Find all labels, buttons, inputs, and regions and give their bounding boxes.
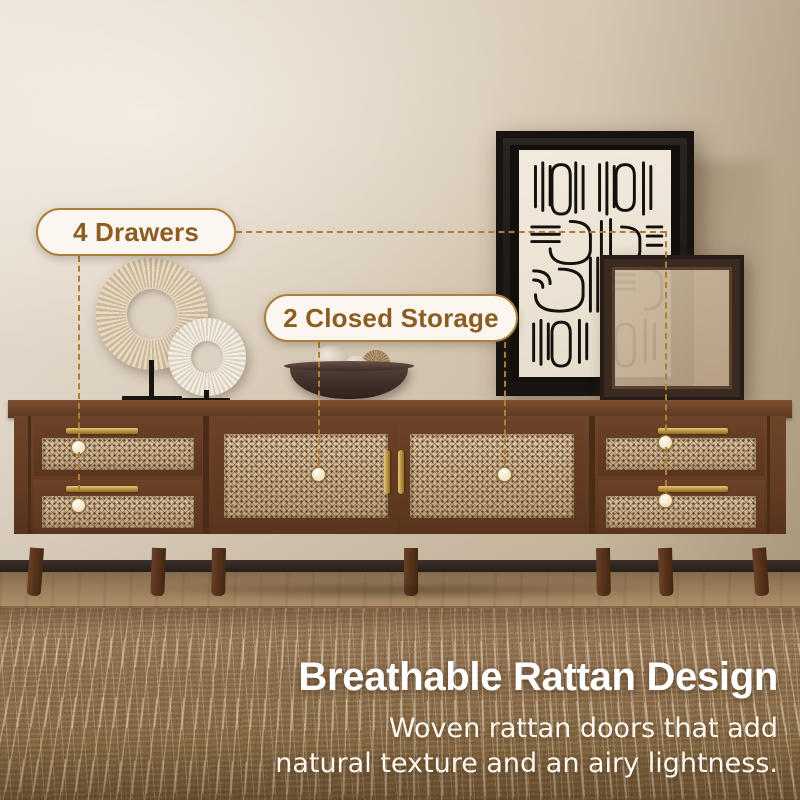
- callout-line-drawers-horizontal: [236, 231, 666, 233]
- sideboard-cabinet: [8, 400, 792, 550]
- callout-badge-storage[interactable]: 2 Closed Storage: [264, 294, 518, 342]
- drawer-handle[interactable]: [658, 486, 728, 492]
- rattan-panel: [410, 434, 574, 518]
- wood-bowl-rim: [284, 361, 414, 371]
- door-handle-left[interactable]: [384, 450, 390, 494]
- callout-line-storage-left: [318, 342, 320, 474]
- rattan-panel: [606, 496, 756, 528]
- callout-dot-drawer-bottom-right: [659, 494, 672, 507]
- callout-line-drawers-right: [665, 231, 667, 441]
- product-scene: 4 Drawers 2 Closed Storage Breathable Ra…: [0, 0, 800, 800]
- empty-picture-frame: [600, 255, 744, 401]
- drawer-handle[interactable]: [658, 428, 728, 434]
- cabinet-floor-shadow: [10, 584, 790, 604]
- callout-dot-door-right: [498, 468, 511, 481]
- callout-badge-drawers-label: 4 Drawers: [73, 217, 199, 248]
- callout-badge-drawers[interactable]: 4 Drawers: [36, 208, 236, 256]
- callout-line-drawers-left-lower: [78, 452, 80, 502]
- callout-badge-storage-label: 2 Closed Storage: [283, 303, 499, 334]
- rattan-panel: [606, 438, 756, 470]
- callout-dot-drawer-bottom-left: [72, 499, 85, 512]
- drawer-handle[interactable]: [66, 486, 138, 492]
- drawer-handle[interactable]: [66, 428, 138, 434]
- rug-top-shadow: [0, 606, 800, 632]
- caption-subline-line2: natural texture and an airy lightness.: [78, 747, 778, 782]
- caption-subline-line1: Woven rattan doors that add: [78, 712, 778, 747]
- door-handle-right[interactable]: [398, 450, 404, 494]
- rattan-panel: [42, 496, 194, 528]
- rattan-panel: [42, 438, 194, 470]
- rattan-panel: [224, 434, 388, 518]
- caption-subline: Woven rattan doors that add natural text…: [78, 712, 778, 781]
- callout-dot-door-left: [312, 468, 325, 481]
- callout-line-storage-right: [504, 342, 506, 474]
- callout-line-drawers-right-lower: [665, 447, 667, 497]
- callout-line-drawers-left: [78, 256, 80, 448]
- caption-headline: Breathable Rattan Design: [18, 655, 778, 700]
- ring-sculpture-small: [168, 318, 246, 396]
